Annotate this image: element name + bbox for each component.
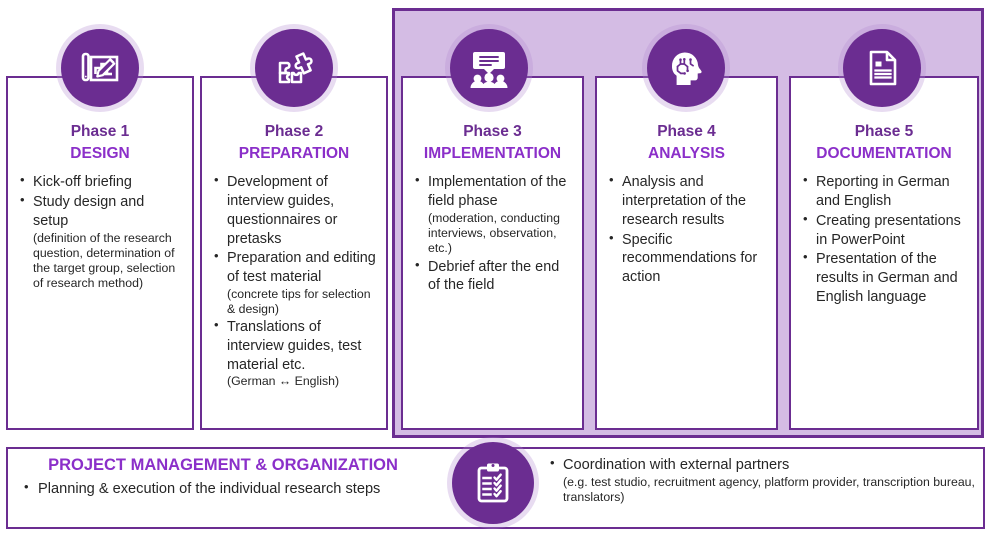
bullet-text: Preparation and editing of test material: [227, 250, 376, 285]
bullet-note: (moderation, conducting interviews, obse…: [428, 211, 572, 257]
bullet-note: (German ↔ English): [227, 374, 376, 389]
process-diagram: Phase 1 DESIGN Kick-off briefing Study d…: [0, 0, 991, 537]
phase-label-5: Phase 5: [801, 122, 967, 143]
puzzle-pieces-icon: [255, 29, 333, 107]
focus-group-speech-icon: [450, 29, 528, 107]
bullet-text: Reporting in German and English: [816, 174, 950, 209]
list-item: Presentation of the results in German an…: [803, 250, 967, 306]
clipboard-checklist-icon: [452, 442, 534, 524]
bullet-text: Planning & execution of the individual r…: [38, 481, 380, 497]
phase-title-2: PREPARATION: [212, 143, 376, 165]
document-page-icon: [843, 29, 921, 107]
phase-card-1[interactable]: Phase 1 DESIGN Kick-off briefing Study d…: [6, 76, 194, 430]
list-item: Analysis and interpretation of the resea…: [609, 173, 766, 229]
project-management-bullets-left: Planning & execution of the individual r…: [8, 480, 438, 499]
bullet-text: Study design and setup: [33, 194, 144, 229]
phase-label-2: Phase 2: [212, 122, 376, 143]
phase-label-4: Phase 4: [607, 122, 766, 143]
phase-title-4: ANALYSIS: [607, 143, 766, 165]
phase-card-3[interactable]: Phase 3 IMPLEMENTATION Implementation of…: [401, 76, 584, 430]
list-item: Study design and setup (definition of th…: [20, 193, 182, 291]
bullet-text: Coordination with external partners: [563, 457, 789, 473]
phase-bullets-5: Reporting in German and English Creating…: [801, 173, 967, 306]
phase-card-4[interactable]: Phase 4 ANALYSIS Analysis and interpreta…: [595, 76, 778, 430]
phase-label-1: Phase 1: [18, 122, 182, 143]
phase-label-3: Phase 3: [413, 122, 572, 143]
project-management-title: PROJECT MANAGEMENT & ORGANIZATION: [8, 455, 438, 476]
project-management-right: Coordination with external partners (e.g…: [548, 456, 978, 506]
phase-card-5[interactable]: Phase 5 DOCUMENTATION Reporting in Germa…: [789, 76, 979, 430]
project-management-left: PROJECT MANAGEMENT & ORGANIZATION Planni…: [8, 449, 438, 500]
phase-bullets-4: Analysis and interpretation of the resea…: [607, 173, 766, 286]
bullet-note: (concrete tips for selection & design): [227, 287, 376, 317]
bullet-text: Specific recommendations for action: [622, 232, 757, 285]
list-item: Planning & execution of the individual r…: [24, 480, 438, 499]
list-item: Preparation and editing of test material…: [214, 249, 376, 317]
bullet-note: (definition of the research question, de…: [33, 231, 182, 292]
list-item: Translations of interview guides, test m…: [214, 318, 376, 389]
bullet-note: (e.g. test studio, recruitment agency, p…: [563, 475, 978, 505]
phase-cards-row: Phase 1 DESIGN Kick-off briefing Study d…: [0, 0, 991, 440]
bullet-text: Creating presentations in PowerPoint: [816, 213, 961, 248]
blueprint-pencil-icon: [61, 29, 139, 107]
project-management-bullets-right: Coordination with external partners (e.g…: [548, 456, 978, 505]
bullet-text: Kick-off briefing: [33, 174, 132, 190]
list-item: Debrief after the end of the field: [415, 258, 572, 295]
phase-bullets-3: Implementation of the field phase (moder…: [413, 173, 572, 295]
bullet-text: Presentation of the results in German an…: [816, 251, 958, 304]
phase-card-2[interactable]: Phase 2 PREPARATION Development of inter…: [200, 76, 388, 430]
phase-title-3: IMPLEMENTATION: [413, 143, 572, 165]
list-item: Development of interview guides, questio…: [214, 173, 376, 248]
phase-bullets-2: Development of interview guides, questio…: [212, 173, 376, 389]
bullet-text: Translations of interview guides, test m…: [227, 319, 361, 372]
list-item: Coordination with external partners (e.g…: [550, 456, 978, 505]
list-item: Specific recommendations for action: [609, 231, 766, 287]
bullet-text: Development of interview guides, questio…: [227, 174, 337, 246]
phase-title-1: DESIGN: [18, 143, 182, 165]
list-item: Implementation of the field phase (moder…: [415, 173, 572, 256]
list-item: Reporting in German and English: [803, 173, 967, 210]
list-item: Kick-off briefing: [20, 173, 182, 192]
bullet-text: Implementation of the field phase: [428, 174, 566, 209]
phase-title-5: DOCUMENTATION: [801, 143, 967, 165]
phase-bullets-1: Kick-off briefing Study design and setup…: [18, 173, 182, 291]
brain-head-icon: [647, 29, 725, 107]
bullet-text: Debrief after the end of the field: [428, 259, 559, 294]
list-item: Creating presentations in PowerPoint: [803, 212, 967, 249]
bullet-text: Analysis and interpretation of the resea…: [622, 174, 746, 227]
